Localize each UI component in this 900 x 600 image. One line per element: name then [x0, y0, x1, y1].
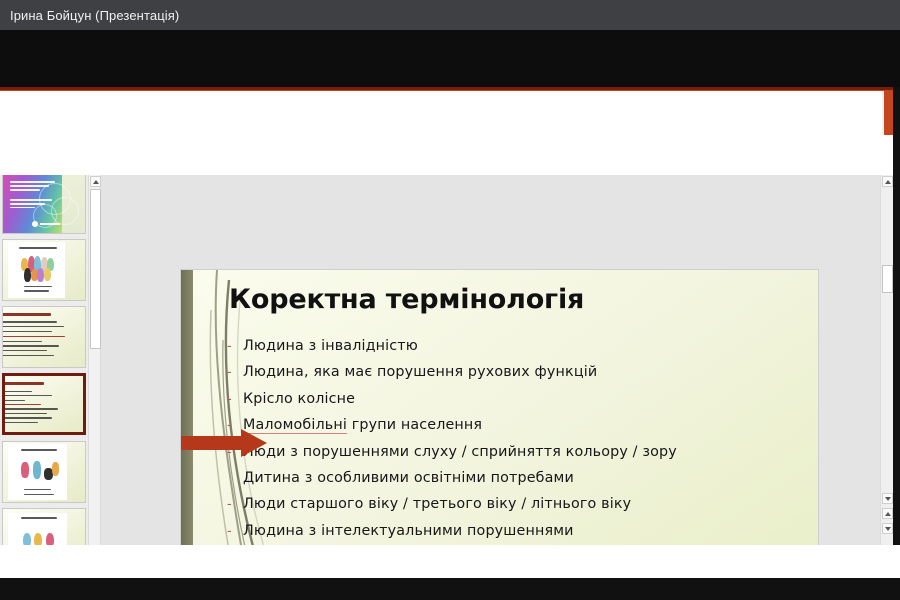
double-chevron-up-icon — [885, 512, 891, 516]
canvas-scrollbar-thumb[interactable] — [882, 265, 893, 293]
window-title: Ірина Бойцун (Презентація) — [0, 8, 179, 23]
bullet-item: - Люди старшого віку / третього віку / л… — [227, 496, 798, 512]
bullet-dash: - — [227, 496, 243, 510]
bullet-dash: - — [227, 364, 243, 378]
next-slide-button[interactable] — [882, 523, 893, 534]
logo-mark — [32, 221, 60, 227]
slide-thumb-4[interactable] — [2, 373, 86, 435]
slide-thumbnail-pane[interactable] — [0, 175, 88, 545]
thumb-text-line — [2, 336, 65, 337]
bullet-text: Люди з порушеннями слуху / сприйняття ко… — [243, 444, 677, 460]
caption-line — [24, 286, 52, 287]
slide-title: Коректна термінологія — [229, 284, 584, 315]
slide-thumb-6-preview — [3, 509, 85, 545]
slide-thumb-1-preview — [3, 175, 85, 233]
double-chevron-down-icon — [885, 527, 891, 531]
current-slide[interactable]: Коректна термінологія - Людина з інвалід… — [181, 270, 818, 545]
slide-thumb-4-preview — [5, 376, 83, 432]
person-figure — [46, 533, 54, 545]
title-text-lines — [10, 181, 56, 210]
slide-thumb-3-preview — [3, 307, 85, 367]
bottom-white-strip — [0, 545, 900, 578]
scroll-up-button[interactable] — [90, 176, 101, 187]
thumb-text-line — [2, 341, 42, 342]
thumb-heading-line — [2, 313, 51, 316]
chrome-gap — [0, 30, 900, 87]
bullet-text: Маломобільні групи населення — [243, 417, 482, 433]
bullet-item: - Людина, яка має порушення рухових функ… — [227, 364, 798, 380]
bottom-black-band — [0, 578, 900, 600]
thumb-text-line — [3, 417, 51, 418]
bullet-rest-text: групи населення — [352, 417, 482, 433]
slide-thumb-1[interactable] — [2, 175, 86, 234]
bullet-text: Дитина з особливими освітніми потребами — [243, 470, 574, 486]
thumb-text-line — [2, 345, 59, 346]
person-figure — [23, 533, 31, 545]
slide-canvas-area: Коректна термінологія - Людина з інвалід… — [103, 175, 893, 545]
thumbnail-scrollbar-thumb[interactable] — [90, 189, 101, 349]
thumb-text-line — [2, 321, 57, 322]
slide-scrollbar[interactable] — [880, 175, 893, 545]
bullet-dash: - — [227, 391, 243, 405]
thumb-text-line — [3, 400, 25, 401]
chevron-up-icon — [885, 180, 891, 184]
canvas-scroll-down-button[interactable] — [882, 493, 893, 504]
bullet-text: Люди старшого віку / третього віку / літ… — [243, 496, 631, 512]
canvas-scroll-up-button[interactable] — [882, 176, 893, 187]
bullet-dash: - — [227, 523, 243, 537]
right-black-margin — [893, 87, 900, 545]
thumb-text-line — [3, 422, 37, 423]
bullet-item: - Маломобільні групи населення — [227, 417, 798, 433]
work-area: Коректна термінологія - Людина з інвалід… — [0, 175, 893, 545]
bullet-text: Людина з інтелектуальними порушеннями — [243, 523, 574, 539]
bullet-item: - Люди з порушеннями слуху / сприйняття … — [227, 444, 798, 460]
thumbnail-scrollbar[interactable] — [88, 175, 101, 545]
bullet-text: Людина з інвалідністю — [243, 338, 418, 354]
presentation-app-window: Коректна термінологія - Людина з інвалід… — [0, 87, 893, 545]
window-titlebar: Ірина Бойцун (Презентація) — [0, 0, 900, 30]
bullet-item: - Людина з інтелектуальними порушеннями — [227, 523, 798, 539]
slide-thumb-5-preview — [3, 442, 85, 502]
thumb-heading-line — [3, 382, 44, 385]
thumb-text-line — [3, 408, 58, 409]
chevron-down-icon — [885, 497, 891, 501]
slide-bullet-list: - Людина з інвалідністю - Людина, яка ма… — [227, 338, 798, 545]
bullet-text: Крісло колісне — [243, 391, 355, 407]
previous-slide-button[interactable] — [882, 508, 893, 519]
thumb-text-line — [3, 391, 31, 392]
slide-thumb-3[interactable] — [2, 306, 86, 368]
person-figure — [34, 533, 42, 545]
person-figure — [52, 462, 59, 476]
person-figure — [21, 462, 29, 478]
slide-thumb-5[interactable] — [2, 441, 86, 503]
bullet-dash: - — [227, 338, 243, 352]
thumb-heading-line — [19, 247, 57, 249]
chevron-up-icon — [93, 180, 99, 184]
bullet-item: - Людина з інвалідністю — [227, 338, 798, 354]
slide-thumb-2-preview — [3, 240, 85, 300]
slide-thumb-6[interactable] — [2, 508, 86, 545]
screen-root: Ірина Бойцун (Презентація) — [0, 0, 900, 600]
person-figure — [44, 268, 51, 281]
ribbon-scrollbar-thumb[interactable] — [884, 91, 893, 135]
slide-left-accent-bar — [181, 270, 193, 545]
ribbon-toolbar-area — [0, 91, 893, 174]
caption-line — [24, 290, 49, 291]
bullet-text: Людина, яка має порушення рухових функці… — [243, 364, 597, 380]
bullet-item: Дитина з особливими освітніми потребами — [227, 470, 798, 486]
caption-line — [24, 489, 50, 490]
person-figure — [33, 461, 41, 479]
thumb-heading-line — [21, 449, 57, 451]
red-arrow-pointer-icon — [181, 428, 269, 458]
bullet-item: - Крісло колісне — [227, 391, 798, 407]
slide-thumb-2[interactable] — [2, 239, 86, 301]
caption-line — [24, 494, 54, 495]
